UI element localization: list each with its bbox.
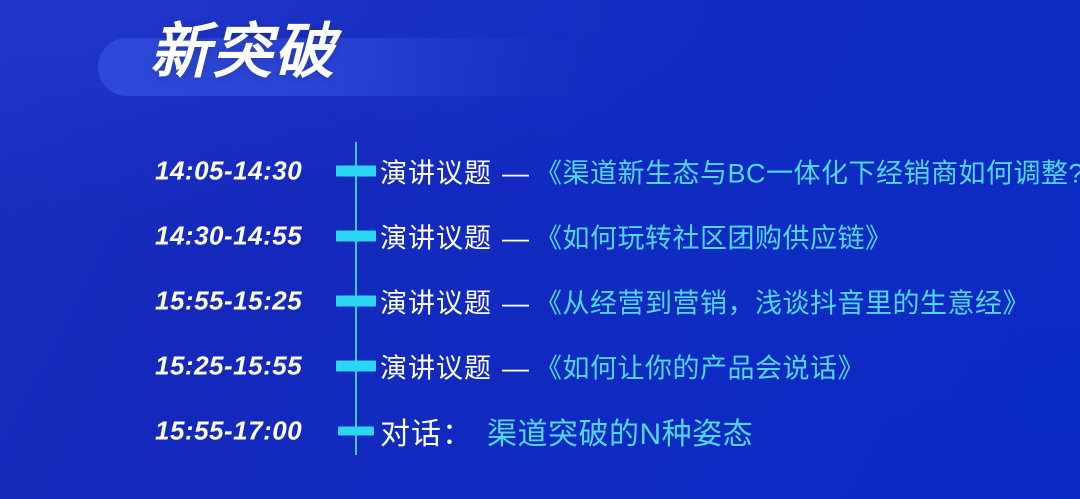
schedule-separator: — [502, 158, 529, 189]
event-schedule-poster: 新突破 14:05-14:30 演讲议题 — 《渠道新生态与BC一体化下经销商如… [0, 0, 1080, 499]
schedule-time: 15:25-15:55 [155, 350, 302, 381]
schedule-row: 15:25-15:55 演讲议题 — 《如何让你的产品会说话》 [0, 333, 1080, 398]
timeline-tick-icon [336, 165, 376, 176]
timeline-tick-icon [336, 230, 376, 241]
timeline-tick-icon [336, 360, 376, 371]
schedule-entry: 演讲议题 — 《渠道新生态与BC一体化下经销商如何调整?》 [380, 151, 1080, 190]
schedule-row: 15:55-15:25 演讲议题 — 《从经营到营销，浅谈抖音里的生意经》 [0, 268, 1080, 333]
schedule-kind: 演讲议题 [380, 281, 492, 320]
schedule-separator: — [502, 288, 529, 319]
schedule-time: 14:30-14:55 [155, 220, 302, 251]
schedule-entry: 演讲议题 — 《从经营到营销，浅谈抖音里的生意经》 [380, 281, 1030, 320]
schedule-topic: 《如何让你的产品会说话》 [535, 346, 865, 385]
schedule-row: 15:55-17:00 对话： 渠道突破的N种姿态 [0, 398, 1080, 463]
schedule-row: 14:05-14:30 演讲议题 — 《渠道新生态与BC一体化下经销商如何调整?… [0, 138, 1080, 203]
schedule-kind: 演讲议题 [380, 346, 492, 385]
schedule-time: 14:05-14:30 [155, 155, 302, 186]
schedule-entry: 对话： 渠道突破的N种姿态 [380, 409, 753, 453]
timeline-tick-icon [338, 426, 374, 435]
page-title: 新突破 [150, 22, 336, 82]
timeline-tick-icon [336, 295, 376, 306]
schedule-topic: 《渠道新生态与BC一体化下经销商如何调整?》 [535, 151, 1080, 190]
schedule-kind: 演讲议题 [380, 151, 492, 190]
schedule-separator: — [502, 353, 529, 384]
schedule-separator: — [502, 223, 529, 254]
schedule-topic: 《如何玩转社区团购供应链》 [535, 216, 893, 255]
schedule-entry: 演讲议题 — 《如何让你的产品会说话》 [380, 346, 865, 385]
schedule-kind: 演讲议题 [380, 216, 492, 255]
poster-title-block: 新突破 [0, 38, 640, 96]
schedule-time: 15:55-17:00 [155, 415, 302, 446]
schedule-list: 14:05-14:30 演讲议题 — 《渠道新生态与BC一体化下经销商如何调整?… [0, 138, 1080, 463]
schedule-entry: 演讲议题 — 《如何玩转社区团购供应链》 [380, 216, 893, 255]
schedule-row: 14:30-14:55 演讲议题 — 《如何玩转社区团购供应链》 [0, 203, 1080, 268]
schedule-topic: 渠道突破的N种姿态 [487, 409, 753, 453]
schedule-time: 15:55-15:25 [155, 285, 302, 316]
schedule-topic: 《从经营到营销，浅谈抖音里的生意经》 [535, 281, 1030, 320]
schedule-kind: 对话： [380, 409, 473, 453]
